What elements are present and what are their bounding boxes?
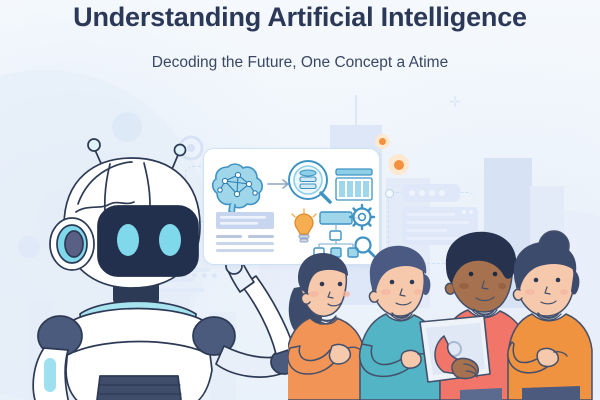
magnifier-data-icon xyxy=(289,161,330,202)
robot-abdomen xyxy=(96,376,182,400)
bar-chart-icon xyxy=(336,169,372,200)
orange-badge-large xyxy=(388,154,409,175)
ghost-card-line xyxy=(407,213,455,216)
robot-eye-right xyxy=(159,224,181,256)
ghost-card-dot xyxy=(469,210,473,214)
bar xyxy=(363,181,369,197)
ghost-card-dot xyxy=(429,190,435,196)
robot-antenna-bulb-left xyxy=(88,139,100,151)
robot-antenna-bulb-right xyxy=(175,145,186,156)
connector-node xyxy=(385,189,394,198)
orange-badge-small xyxy=(375,134,390,149)
ghost-card-dot xyxy=(462,210,466,214)
bar xyxy=(355,181,361,197)
poster-canvas: ✛ Understanding Artificial Intelligence … xyxy=(0,0,600,400)
robot-eye-left xyxy=(117,224,139,256)
bar xyxy=(347,181,353,197)
ghost-card-dot xyxy=(409,190,415,196)
robot-visor xyxy=(98,206,198,276)
text-block-icon xyxy=(216,212,274,252)
person-woman-ponytail xyxy=(288,253,364,400)
page-subtitle: Decoding the Future, One Concept a Atime xyxy=(0,54,600,72)
skyline-spire xyxy=(355,95,357,127)
page-title: Understanding Artificial Intelligence xyxy=(0,2,600,33)
plus-mark-icon: ✛ xyxy=(449,95,462,110)
ghost-card-dot xyxy=(439,190,445,196)
people-group xyxy=(288,222,600,400)
ghost-card-dot xyxy=(419,190,425,196)
brain-network-icon xyxy=(213,164,262,215)
bar xyxy=(339,181,345,197)
person-woman-bun xyxy=(508,231,592,400)
arrow-right-icon xyxy=(268,180,288,188)
